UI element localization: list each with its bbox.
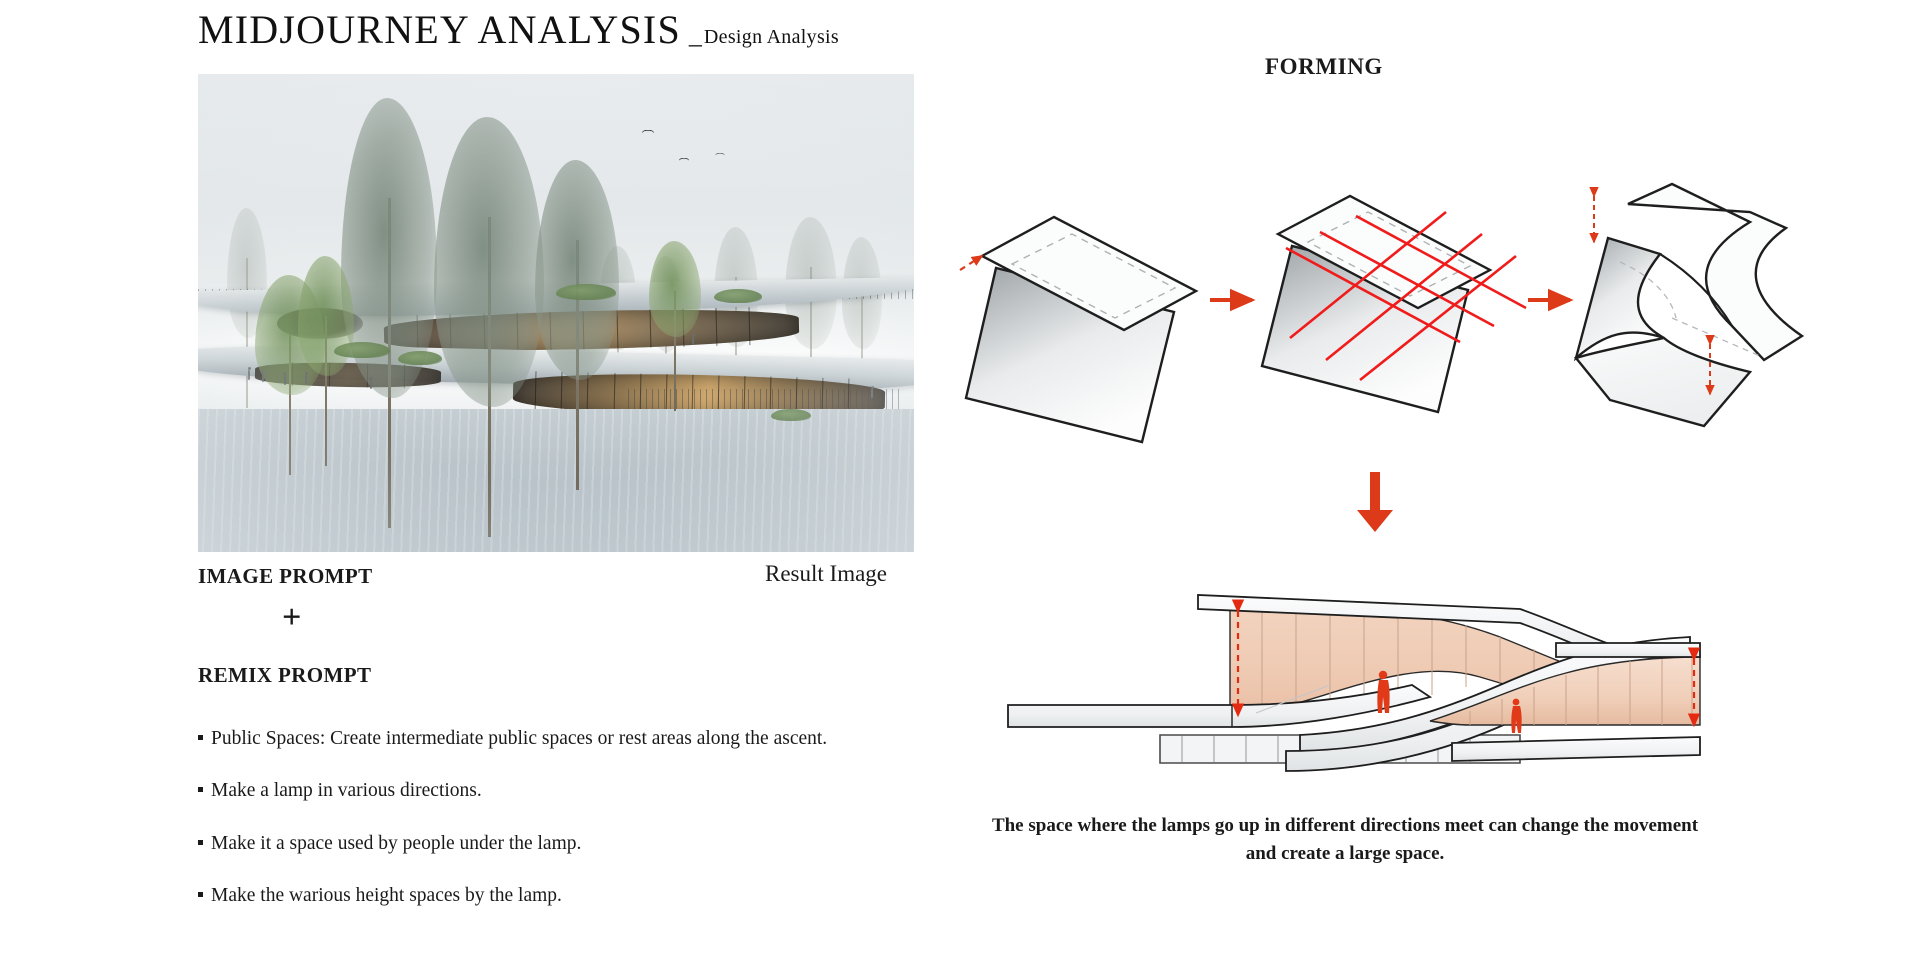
upper-slab-right xyxy=(1556,643,1700,657)
bullet-icon xyxy=(198,892,203,897)
down-arrow-icon xyxy=(1345,472,1405,534)
scale-figure xyxy=(692,337,694,345)
result-image-label: Result Image xyxy=(765,561,887,587)
presentation-board: MIDJOURNEY ANALYSIS _ Design Analysis xyxy=(0,0,1920,980)
section-perspective-diagram xyxy=(1000,545,1700,795)
forming-heading: FORMING xyxy=(1265,54,1383,80)
plus-icon: + xyxy=(282,601,301,635)
scale-figure xyxy=(871,389,873,398)
forming-step-1 xyxy=(960,216,1196,442)
page-title: MIDJOURNEY ANALYSIS _ Design Analysis xyxy=(198,10,839,50)
foreground-tree xyxy=(341,98,437,528)
forming-step-2 xyxy=(1262,196,1526,412)
list-item-text: Make a lamp in various directions. xyxy=(211,778,898,804)
scale-figure xyxy=(248,370,250,380)
bird-icon xyxy=(679,156,689,162)
bird-icon xyxy=(715,151,724,156)
list-item-text: Make it a space used by people under the… xyxy=(211,831,898,857)
ground-slab-left xyxy=(1008,685,1430,727)
image-prompt-label: IMAGE PROMPT xyxy=(198,564,373,589)
list-item-text: Make the warious height spaces by the la… xyxy=(211,883,898,909)
planting xyxy=(556,284,616,300)
bird-icon xyxy=(642,127,654,134)
list-item-text: Public Spaces: Create intermediate publi… xyxy=(211,726,898,752)
planting xyxy=(334,342,390,358)
remix-prompt-label: REMIX PROMPT xyxy=(198,663,371,688)
bullet-icon xyxy=(198,840,203,845)
scale-figure xyxy=(370,380,372,389)
title-main: MIDJOURNEY ANALYSIS xyxy=(198,10,681,50)
bullet-icon xyxy=(198,735,203,740)
list-item: Public Spaces: Create intermediate publi… xyxy=(198,726,898,752)
foreground-tree xyxy=(434,117,544,537)
remix-prompt-list: Public Spaces: Create intermediate publi… xyxy=(198,726,898,935)
bullet-icon xyxy=(198,787,203,792)
list-item: Make the warious height spaces by the la… xyxy=(198,883,898,909)
foreground-tree xyxy=(649,241,701,411)
forming-step-diagram xyxy=(960,150,1880,400)
scale-figure xyxy=(284,375,286,385)
architectural-render-image xyxy=(198,74,914,552)
foreground-tree xyxy=(298,256,354,466)
planting xyxy=(714,289,762,303)
forming-step-3 xyxy=(1576,184,1802,426)
title-separator: _ xyxy=(689,20,702,50)
list-item: Make a lamp in various directions. xyxy=(198,778,898,804)
list-item: Make it a space used by people under the… xyxy=(198,831,898,857)
diagram-caption: The space where the lamps go up in diffe… xyxy=(985,812,1705,867)
title-subtitle: Design Analysis xyxy=(704,26,839,49)
foreground-tree xyxy=(535,160,619,490)
planting xyxy=(771,409,811,421)
planting xyxy=(398,351,442,365)
